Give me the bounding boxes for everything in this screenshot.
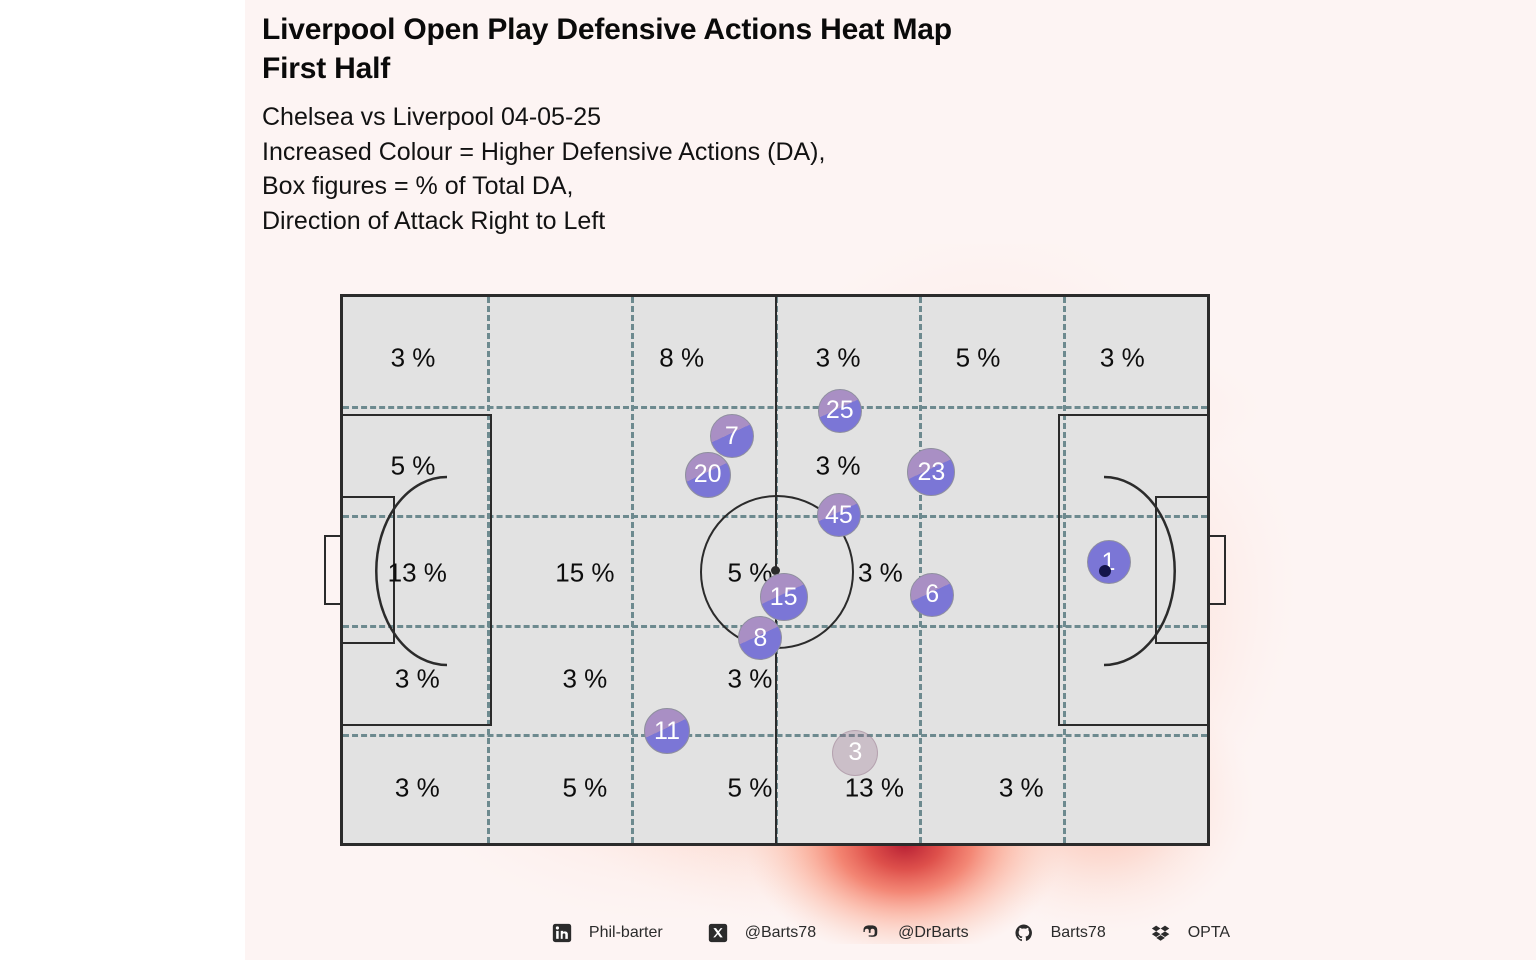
goal-left xyxy=(324,535,343,606)
pitch-container: 3 %8 %3 %5 %3 %5 %3 %13 %15 %5 %3 %3 %3 … xyxy=(340,294,1210,846)
zone-percentage-label: 3 % xyxy=(395,664,440,695)
x-twitter-icon[interactable] xyxy=(707,922,729,944)
zone-percentage-label: 3 % xyxy=(395,773,440,804)
player-number: 3 xyxy=(848,740,862,765)
grid-line-vertical xyxy=(631,297,634,843)
dropbox-icon[interactable] xyxy=(1150,922,1172,944)
player-number: 25 xyxy=(826,398,854,423)
zone-percentage-label: 5 % xyxy=(956,343,1001,374)
github-icon[interactable] xyxy=(1013,922,1035,944)
player-number: 45 xyxy=(825,503,853,528)
zone-percentage-label: 3 % xyxy=(858,557,903,588)
player-marker[interactable]: 11 xyxy=(644,708,690,754)
player-marker[interactable]: 15 xyxy=(760,573,808,621)
player-number: 20 xyxy=(694,462,722,487)
player-marker[interactable]: 25 xyxy=(818,389,862,433)
zone-percentage-label: 3 % xyxy=(728,664,773,695)
player-marker[interactable]: 1 xyxy=(1087,540,1131,584)
goal-right xyxy=(1207,535,1226,606)
player-number: 7 xyxy=(725,424,739,449)
zone-percentage-label: 3 % xyxy=(563,664,608,695)
subtitle-block: Chelsea vs Liverpool 04-05-25 Increased … xyxy=(262,100,1222,238)
zone-percentage-label: 3 % xyxy=(999,773,1044,804)
player-marker[interactable]: 7 xyxy=(710,414,754,458)
zone-percentage-label: 5 % xyxy=(728,773,773,804)
credit-handle: @DrBarts xyxy=(898,924,968,942)
player-marker[interactable]: 3 xyxy=(832,730,878,776)
player-number: 15 xyxy=(770,585,798,610)
player-marker[interactable]: 23 xyxy=(907,448,955,496)
player-number: 6 xyxy=(925,582,939,607)
credits-footer: Phil-barter@Barts78@DrBartsBarts78OPTA xyxy=(245,922,1536,944)
mastodon-icon[interactable] xyxy=(860,922,882,944)
player-marker[interactable]: 45 xyxy=(817,493,861,537)
zone-percentage-label: 3 % xyxy=(1100,343,1145,374)
pitch-surface: 3 %8 %3 %5 %3 %5 %3 %13 %15 %5 %3 %3 %3 … xyxy=(340,294,1210,846)
credit-item[interactable]: Barts78 xyxy=(1013,922,1150,944)
zone-percentage-label: 13 % xyxy=(388,557,447,588)
player-marker[interactable]: 20 xyxy=(685,452,731,498)
credit-handle: OPTA xyxy=(1188,924,1230,942)
zone-percentage-label: 5 % xyxy=(391,451,436,482)
player-number: 23 xyxy=(917,460,945,485)
player-marker[interactable]: 8 xyxy=(738,616,782,660)
penalty-arc-right xyxy=(982,477,1103,663)
credit-handle: Barts78 xyxy=(1051,924,1106,942)
player-number: 8 xyxy=(753,626,767,651)
player-marker[interactable]: 6 xyxy=(910,573,954,617)
grid-line-vertical xyxy=(919,297,922,843)
credit-item[interactable]: Phil-barter xyxy=(551,922,707,944)
credit-item[interactable]: OPTA xyxy=(1150,922,1230,944)
credit-handle: @Barts78 xyxy=(745,924,816,942)
zone-percentage-label: 3 % xyxy=(391,343,436,374)
credit-handle: Phil-barter xyxy=(589,924,663,942)
zone-percentage-label: 15 % xyxy=(555,557,614,588)
figure-canvas: Liverpool Open Play Defensive Actions He… xyxy=(245,0,1536,960)
player-number: 11 xyxy=(654,719,680,744)
zone-percentage-label: 3 % xyxy=(816,343,861,374)
zone-percentage-label: 3 % xyxy=(816,451,861,482)
zone-percentage-label: 13 % xyxy=(845,773,904,804)
linkedin-icon[interactable] xyxy=(551,922,573,944)
credit-item[interactable]: @Barts78 xyxy=(707,922,860,944)
page-title: Liverpool Open Play Defensive Actions He… xyxy=(262,10,1222,88)
penalty-arc-left xyxy=(447,477,568,663)
credit-item[interactable]: @DrBarts xyxy=(860,922,1012,944)
zone-percentage-label: 5 % xyxy=(563,773,608,804)
zone-percentage-label: 8 % xyxy=(659,343,704,374)
ball-dot-icon xyxy=(1099,565,1111,577)
